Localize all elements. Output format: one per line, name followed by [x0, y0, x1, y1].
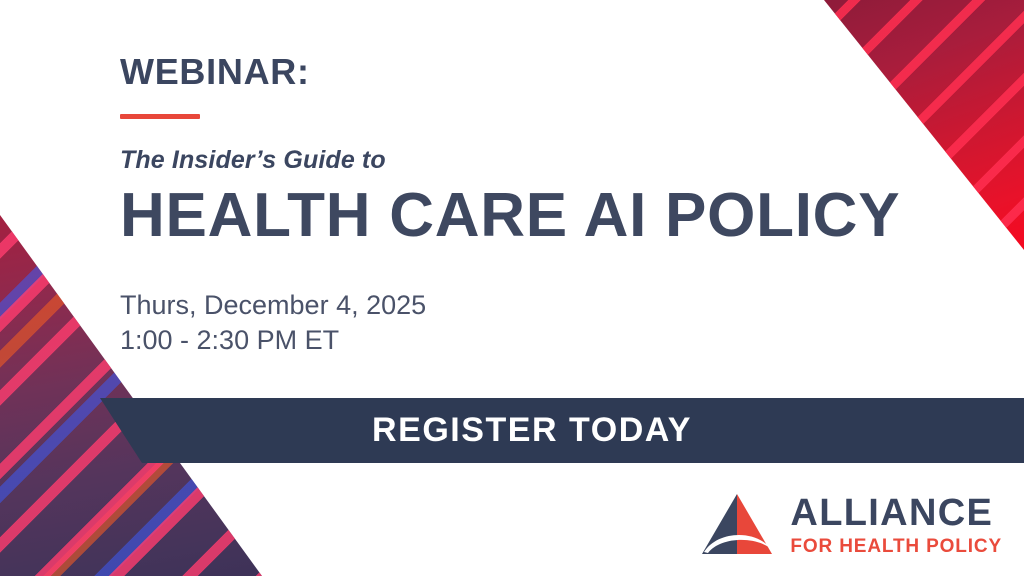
event-date: Thurs, December 4, 2025 [120, 288, 950, 324]
promo-text-block: WEBINAR: The Insider’s Guide to HEALTH C… [120, 52, 950, 359]
alliance-triangle-mark-icon [698, 492, 776, 558]
register-today-label: REGISTER TODAY [332, 411, 692, 450]
subtitle-text: The Insider’s Guide to [120, 145, 950, 175]
page-title: HEALTH CARE AI POLICY [120, 183, 950, 250]
logo-name-text: ALLIANCE [790, 494, 1002, 532]
alliance-wordmark: ALLIANCE FOR HEALTH POLICY [790, 494, 1002, 556]
logo-tagline-text: FOR HEALTH POLICY [790, 537, 1002, 556]
alliance-logo: ALLIANCE FOR HEALTH POLICY [698, 492, 1002, 558]
eyebrow-label: WEBINAR: [120, 52, 950, 92]
accent-rule-divider [120, 114, 200, 119]
event-datetime-block: Thurs, December 4, 2025 1:00 - 2:30 PM E… [120, 288, 950, 359]
event-time: 1:00 - 2:30 PM ET [120, 323, 950, 359]
promo-canvas: WEBINAR: The Insider’s Guide to HEALTH C… [0, 0, 1024, 576]
register-today-banner[interactable]: REGISTER TODAY [0, 398, 1024, 463]
